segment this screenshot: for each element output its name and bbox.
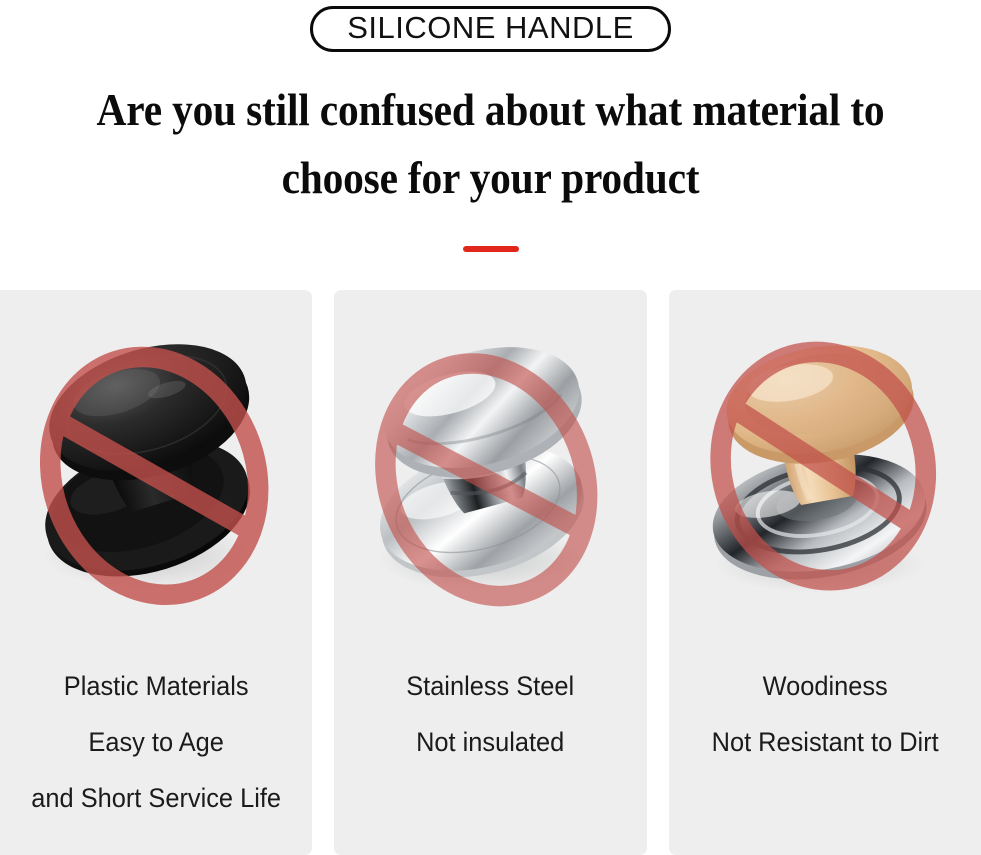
plastic-knob-figure <box>0 290 312 650</box>
material-card-woodiness: Woodiness Not Resistant to Dirt <box>669 290 981 855</box>
red-divider <box>463 246 519 252</box>
material-card-plastic: Plastic Materials Easy to Age and Short … <box>0 290 312 855</box>
material-card-list: Plastic Materials Easy to Age and Short … <box>0 290 981 855</box>
wood-caption: Woodiness Not Resistant to Dirt <box>678 658 972 770</box>
steel-caption: Stainless Steel Not insulated <box>344 658 638 770</box>
steel-caption-line-1: Stainless Steel <box>344 658 638 714</box>
steel-knob-figure <box>334 290 646 650</box>
wood-knob-figure <box>669 290 981 650</box>
wood-caption-line-2: Not Resistant to Dirt <box>678 714 972 770</box>
wood-caption-line-1: Woodiness <box>678 658 972 714</box>
headline-line-2: choose for your product <box>39 144 942 212</box>
wooden-pot-knob-prohibited-icon <box>669 290 981 650</box>
silicone-handle-badge: SILICONE HANDLE <box>310 6 671 52</box>
black-plastic-pot-knob-prohibited-icon <box>0 290 312 650</box>
plastic-caption: Plastic Materials Easy to Age and Short … <box>9 658 303 826</box>
plastic-caption-line-1: Plastic Materials <box>9 658 303 714</box>
steel-caption-line-2: Not insulated <box>344 714 638 770</box>
divider-wrap <box>0 246 981 252</box>
material-card-stainless-steel: Stainless Steel Not insulated <box>334 290 646 855</box>
headline-line-1: Are you still confused about what materi… <box>39 76 942 144</box>
page-title: Are you still confused about what materi… <box>39 76 942 212</box>
plastic-caption-line-2: Easy to Age <box>9 714 303 770</box>
badge-row: SILICONE HANDLE <box>0 6 981 52</box>
badge-label: SILICONE HANDLE <box>347 10 634 45</box>
plastic-caption-line-3: and Short Service Life <box>9 770 303 826</box>
stainless-steel-pot-knob-prohibited-icon <box>334 290 646 650</box>
